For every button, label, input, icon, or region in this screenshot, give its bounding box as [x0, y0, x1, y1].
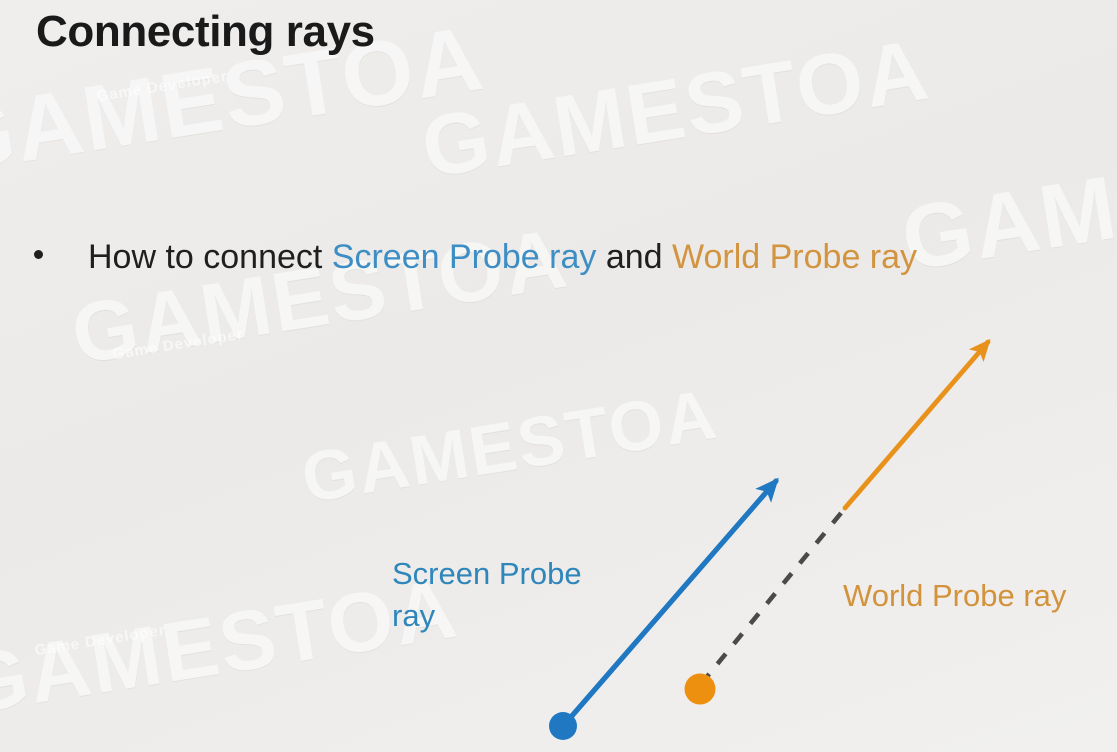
- world-probe-ray-label: World Probe ray: [843, 575, 1117, 617]
- bullet-segment-world-probe-ray: World Probe ray: [672, 238, 917, 276]
- watermark-text: GAMESTOA: [895, 107, 1117, 292]
- bullet-segment-plain-2: and: [596, 238, 672, 276]
- watermark-subtext: Game Developer: [33, 622, 166, 660]
- bullet-segment-screen-probe-ray: Screen Probe ray: [332, 238, 597, 276]
- screen-probe-ray-label-line1: Screen Probe: [392, 553, 632, 595]
- bullet-segment-plain-1: How to connect: [88, 238, 332, 276]
- slide-title: Connecting rays: [36, 6, 375, 59]
- slide-canvas: GAMESTOA GAMESTOA GAMESTOA GAMESTOA GAME…: [0, 0, 1117, 752]
- watermark-text: GAMESTOA: [296, 374, 723, 519]
- watermark-text: GAMESTOA: [415, 21, 936, 199]
- world-probe-ray-arrow: [845, 342, 988, 508]
- ray-diagram: [0, 0, 1117, 752]
- dashed-connector-line: [701, 507, 846, 684]
- world-probe-origin-dot: [685, 674, 716, 705]
- screen-probe-ray-label-line2: ray: [392, 595, 632, 637]
- bullet-item: How to connect Screen Probe ray and Worl…: [34, 236, 917, 279]
- watermark-subtext: Game Developer: [111, 326, 244, 364]
- bullet-marker-icon: [34, 250, 43, 259]
- bullet-text: How to connect Screen Probe ray and Worl…: [88, 236, 917, 279]
- screen-probe-origin-dot: [549, 712, 577, 740]
- watermark-subtext: Game Developer: [95, 68, 228, 106]
- watermark-layer: GAMESTOA GAMESTOA GAMESTOA GAMESTOA GAME…: [0, 0, 1117, 752]
- screen-probe-ray-label: Screen Probe ray: [392, 553, 632, 637]
